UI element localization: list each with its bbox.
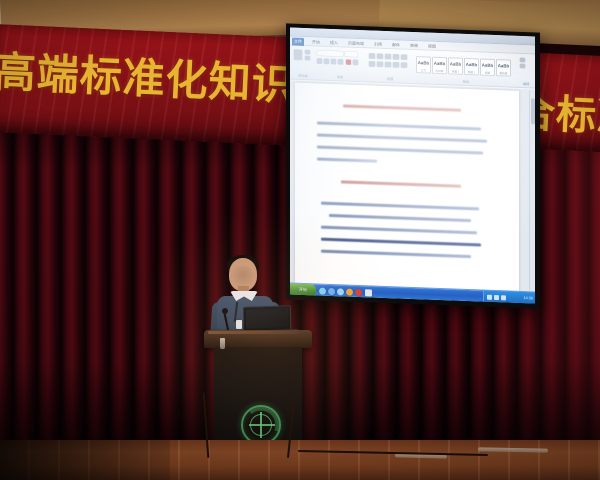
document-paragraph-line-2	[317, 133, 487, 142]
style-no-spacing-label: 无间隔	[433, 70, 446, 74]
folder-icon[interactable]	[346, 288, 353, 295]
style-heading-2[interactable]: AaBb 标题 2	[464, 58, 479, 76]
document-canvas[interactable]	[290, 80, 535, 291]
document-bullet-line-2	[329, 214, 471, 222]
lectern-item-left	[220, 338, 225, 349]
presenter-face-shadow	[231, 266, 255, 288]
lectern-top-highlight	[208, 331, 300, 334]
style-normal-label: 正文	[417, 69, 430, 73]
scrollbar-thumb[interactable]	[531, 98, 535, 124]
style-normal[interactable]: AaBb 正文	[416, 56, 431, 74]
ribbon-group-label-paragraph: 段落	[368, 75, 412, 82]
ribbon-group-label-editing: 编辑	[518, 81, 534, 87]
numbered-list-icon[interactable]	[377, 54, 383, 59]
align-left-icon[interactable]	[369, 61, 375, 66]
microphone-head	[222, 308, 228, 314]
pdf-reader-icon[interactable]	[355, 288, 362, 295]
document-heading	[343, 104, 461, 112]
paste-icon[interactable]	[294, 50, 302, 60]
institution-emblem	[241, 405, 281, 445]
network-icon[interactable]	[487, 294, 492, 299]
taskbar-clock: 14:36	[523, 296, 533, 300]
system-tray[interactable]: 14:36	[483, 291, 535, 304]
emblem-inner-mark	[250, 414, 272, 436]
document-page[interactable]	[295, 83, 519, 292]
bullet-list-icon[interactable]	[369, 53, 375, 58]
document-bullet-line-1	[321, 202, 479, 210]
style-heading-2-label: 标题 2	[465, 71, 478, 75]
style-subtitle[interactable]: AaBb 副标题	[496, 59, 511, 77]
event-banner-left: 高端标准化知识	[0, 24, 294, 145]
media-player-icon[interactable]	[337, 288, 344, 295]
style-subtitle-label: 副标题	[497, 72, 510, 76]
document-paragraph-line-4	[317, 157, 377, 162]
show-desktop-icon[interactable]	[319, 287, 326, 294]
multilevel-list-icon[interactable]	[385, 54, 391, 59]
ribbon-group-paragraph[interactable]: 段落	[368, 50, 412, 82]
style-heading-2-preview: AaBb	[465, 59, 478, 71]
increase-indent-icon[interactable]	[401, 55, 407, 60]
document-scrollbar[interactable]	[529, 90, 534, 290]
stage-floor-shadow	[0, 440, 170, 480]
justify-icon[interactable]	[393, 62, 399, 67]
ribbon-group-label-clipboard: 剪贴板	[292, 73, 314, 79]
align-right-icon[interactable]	[385, 62, 391, 67]
strikethrough-icon[interactable]	[338, 59, 343, 64]
line-spacing-icon[interactable]	[401, 63, 407, 68]
copy-icon[interactable]	[305, 56, 310, 60]
replace-icon[interactable]	[520, 64, 525, 68]
style-title-label: 标题	[481, 71, 494, 75]
floor-cable-tape-2	[478, 447, 548, 452]
start-button[interactable]: 开始	[290, 283, 316, 296]
ime-icon[interactable]	[501, 295, 506, 300]
laptop-screen	[246, 308, 288, 328]
style-title[interactable]: AaBb 标题	[480, 58, 495, 76]
conference-hall-photo: 高端标准化知识 合标准 文件 开始 插入 页面布局 引用 邮件 审阅 视图	[0, 0, 600, 480]
style-heading-1[interactable]: AaBb 标题 1	[448, 57, 463, 75]
cut-icon[interactable]	[305, 50, 310, 54]
style-heading-1-preview: AaBb	[449, 58, 462, 70]
underline-icon[interactable]	[331, 59, 336, 64]
document-paragraph-line-1	[317, 121, 481, 130]
document-subheading	[341, 180, 461, 188]
name-badge	[236, 320, 242, 329]
projection-screen-surface: 文件 开始 插入 页面布局 引用 邮件 审阅 视图 剪贴板	[290, 27, 535, 303]
volume-icon[interactable]	[494, 294, 499, 299]
decrease-indent-icon[interactable]	[393, 54, 399, 59]
ribbon-group-label-styles: 样式	[416, 77, 516, 86]
projection-screen: 文件 开始 插入 页面布局 引用 邮件 审阅 视图 剪贴板	[286, 23, 540, 308]
ribbon-group-font[interactable]: 字体	[316, 48, 364, 80]
font-name-box[interactable]	[317, 50, 343, 56]
style-heading-1-label: 标题 1	[449, 70, 462, 74]
document-paragraph-line-3	[317, 145, 483, 154]
stage-floor	[0, 440, 600, 480]
font-size-box[interactable]	[345, 52, 357, 57]
browser-icon[interactable]	[328, 287, 335, 294]
highlight-icon[interactable]	[353, 60, 358, 65]
ribbon-group-editing[interactable]: 编辑	[518, 56, 534, 87]
find-icon[interactable]	[520, 58, 525, 62]
bold-icon[interactable]	[317, 58, 322, 63]
align-center-icon[interactable]	[377, 62, 383, 67]
word-document-icon[interactable]	[365, 289, 372, 296]
document-bullet-line-3	[321, 226, 477, 234]
style-title-preview: AaBb	[481, 59, 494, 71]
italic-icon[interactable]	[324, 59, 329, 64]
style-normal-preview: AaBb	[417, 57, 430, 69]
document-bullet-line-5	[321, 250, 471, 258]
ribbon-group-styles[interactable]: AaBb 正文 AaBb 无间隔 AaBb 标题 1 AaBb 标题 2	[416, 52, 516, 86]
style-subtitle-preview: AaBb	[497, 60, 510, 72]
document-bullet-line-4	[321, 238, 481, 247]
ribbon-group-label-font: 字体	[316, 73, 364, 80]
banner-text-left: 高端标准化知识	[0, 38, 294, 113]
font-color-icon[interactable]	[346, 60, 351, 65]
style-no-spacing-preview: AaBb	[433, 58, 446, 70]
ribbon-group-clipboard[interactable]: 剪贴板	[292, 48, 314, 79]
style-no-spacing[interactable]: AaBb 无间隔	[432, 57, 447, 75]
